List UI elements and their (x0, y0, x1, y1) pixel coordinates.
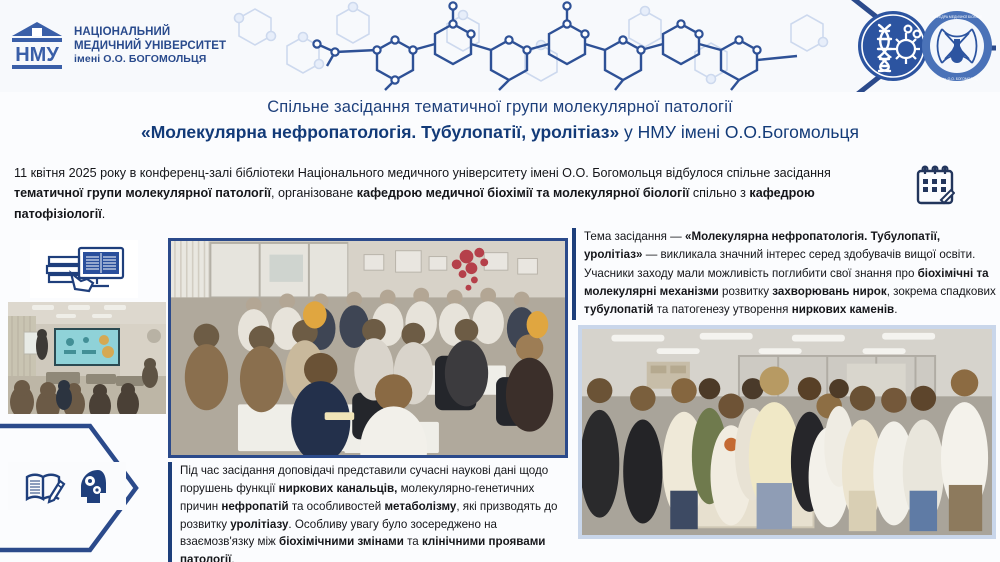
bottom-bold-5: біохімічними змінами (279, 535, 404, 548)
department-seal-emblem-icon: КАФЕДРА МЕДИЧНОЇ БІОХІМІЇ НМУ ім. О.О. Б… (920, 9, 994, 83)
intro-paragraph: 11 квітня 2025 року в конференц-залі біб… (14, 163, 894, 224)
page-header: НМУ НАЦІОНАЛЬНИЙ МЕДИЧНИЙ УНІВЕРСИТЕТ ім… (0, 0, 1000, 92)
open-book-with-pencil-icon (24, 467, 66, 505)
intro-part-2: , організоване (271, 186, 357, 200)
right-bold-3: захворювань нирок (772, 285, 886, 298)
svg-text:НМУ: НМУ (15, 44, 59, 66)
intro-part-1: 11 квітня 2025 року в конференц-залі біб… (14, 166, 831, 180)
photo-lecture-hall (168, 238, 568, 458)
bottom-part-3: та особливостей (289, 500, 385, 513)
right-part-2: — викликала значний інтерес серед здобув… (584, 248, 975, 279)
photo-classroom (8, 302, 166, 414)
bottom-bold-4: уролітіазу (230, 518, 288, 531)
intro-bold-1: тематичної групи молекулярної патології (14, 186, 271, 200)
nmu-logo: НМУ НАЦІОНАЛЬНИЙ МЕДИЧНИЙ УНІВЕРСИТЕТ ім… (8, 12, 228, 80)
right-text-block: Тема засідання — «Молекулярна нефропатол… (572, 228, 996, 320)
title-topic-bold: «Молекулярна нефропатологія. Тубулопатії… (141, 122, 619, 142)
title-suffix: у НМУ імені О.О.Богомольця (619, 122, 859, 142)
knowledge-icons-card (8, 462, 126, 510)
dna-molecule-emblem-icon (856, 9, 930, 83)
molecular-hexagon-pattern-icon (225, 0, 865, 92)
page-title: Спільне засідання тематичної групи молек… (0, 96, 1000, 145)
logo-line-2: МЕДИЧНИЙ УНІВЕРСИТЕТ (74, 40, 226, 54)
lecture-photo-image (171, 241, 565, 455)
infographic-page: НМУ НАЦІОНАЛЬНИЙ МЕДИЧНИЙ УНІВЕРСИТЕТ ім… (0, 0, 1000, 562)
right-part-3: розвитку (719, 285, 772, 298)
head-with-gears-icon (76, 467, 110, 505)
bottom-part-7: . (231, 553, 234, 562)
bottom-part-6: та (404, 535, 422, 548)
photo-group (578, 325, 996, 539)
intro-bold-2: кафедрою медичної біохімії та молекулярн… (357, 186, 690, 200)
group-photo-image (582, 329, 992, 535)
calendar-icon (915, 164, 955, 206)
svg-text:КАФЕДРА МЕДИЧНОЇ БІОХІМІЇ: КАФЕДРА МЕДИЧНОЇ БІОХІМІЇ (932, 15, 981, 19)
bottom-bold-3: метаболізму (384, 500, 456, 513)
right-part-1: Тема засідання — (584, 230, 685, 243)
intro-part-3: спільно з (689, 186, 749, 200)
books-and-monitor-icon (41, 245, 127, 293)
intro-part-4: . (102, 207, 106, 221)
right-bold-5: ниркових каменів (792, 303, 895, 316)
logo-line-1: НАЦІОНАЛЬНИЙ (74, 26, 226, 40)
right-part-4: , зокрема спадкових (887, 285, 996, 298)
title-line-2: «Молекулярна нефропатологія. Тубулопатії… (0, 121, 1000, 145)
bottom-text-block: Під час засідання доповідачі представили… (168, 462, 572, 562)
svg-text:НМУ ім. О.О. БОГОМОЛЬЦЯ: НМУ ім. О.О. БОГОМОЛЬЦЯ (934, 77, 980, 81)
bottom-bold-2: нефропатій (221, 500, 288, 513)
right-bold-4: тубулопатій (584, 303, 654, 316)
elearning-icon-card (30, 240, 138, 298)
nmu-building-logo-icon: НМУ (8, 18, 66, 74)
logo-line-3: імені О.О. БОГОМОЛЬЦЯ (74, 53, 226, 65)
title-line-1: Спільне засідання тематичної групи молек… (0, 96, 1000, 118)
classroom-photo-image (8, 302, 166, 414)
right-part-5: та патогенезу утворення (654, 303, 792, 316)
bottom-bold-1: ниркових канальців, (279, 482, 398, 495)
header-emblems: КАФЕДРА МЕДИЧНОЇ БІОХІМІЇ НМУ ім. О.О. Б… (844, 8, 994, 84)
right-part-6: . (894, 303, 897, 316)
